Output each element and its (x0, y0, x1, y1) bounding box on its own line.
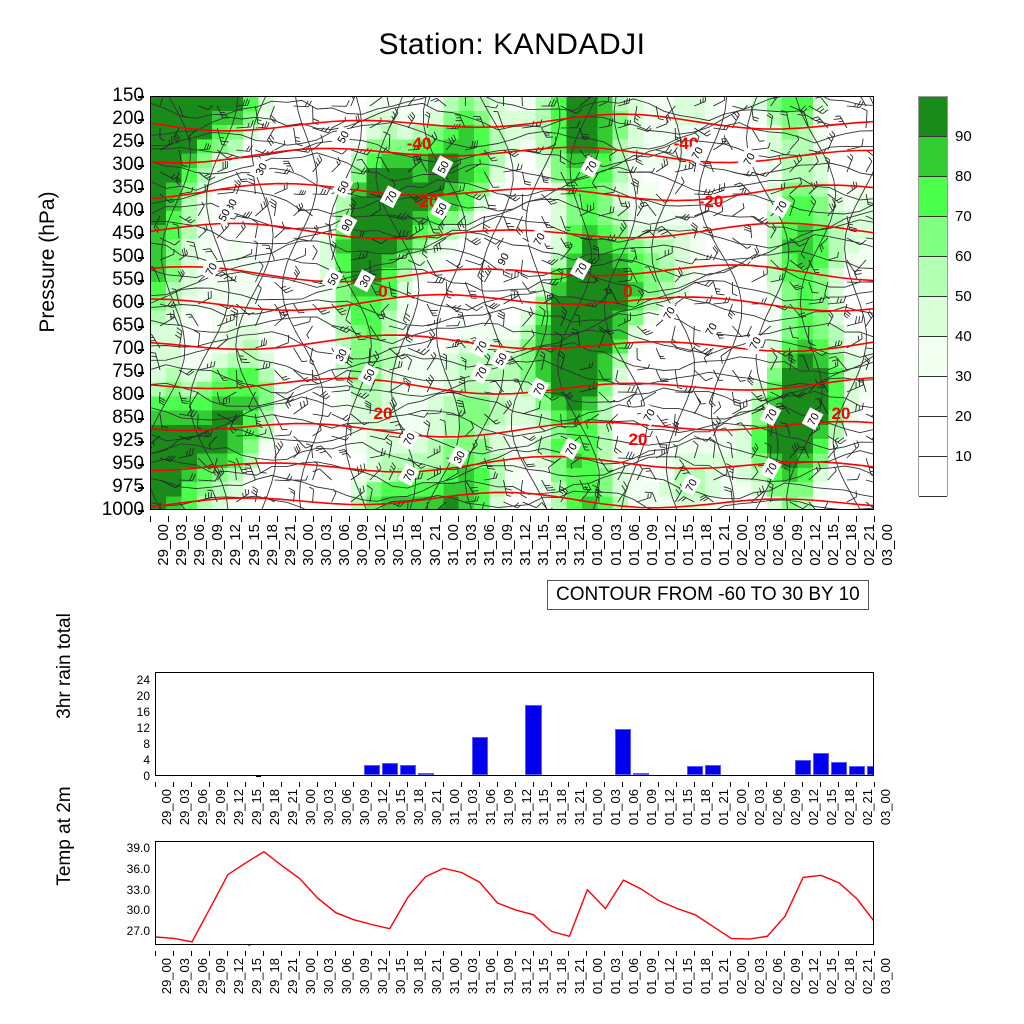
page-title: Station: KANDADJI (0, 28, 1024, 62)
time-tick-label: 30_03 (321, 789, 336, 845)
rain-bar[interactable] (867, 766, 874, 775)
time-tick-label: 01_03 (608, 958, 623, 1014)
time-tick-mark (204, 516, 205, 522)
pressure-tick-label: 850 (84, 407, 144, 429)
pressure-tick-label: 925 (84, 430, 144, 452)
time-tick-label: 01_15 (680, 789, 695, 845)
humidity-colorbar[interactable]: 908070605040302010 (918, 96, 948, 496)
time-tick-label: 02_03 (752, 958, 767, 1014)
svg-text:20: 20 (374, 404, 393, 423)
time-tick-mark (299, 782, 300, 787)
time-tick-mark (748, 782, 749, 787)
rain-bar[interactable] (382, 763, 398, 775)
temperature-canvas (156, 842, 874, 945)
time-tick-label: 02_21 (860, 958, 875, 1014)
time-tick-mark (566, 516, 567, 522)
rain-bar-chart[interactable] (155, 672, 874, 776)
colorbar-band[interactable] (919, 177, 947, 217)
pressure-tick-label: 750 (84, 361, 144, 383)
rain-bar[interactable] (400, 765, 416, 775)
rain-bar[interactable] (795, 760, 811, 775)
time-tick-label: 01_09 (644, 789, 659, 845)
rain-bar[interactable] (615, 729, 631, 775)
time-tick-label: 30_18 (411, 789, 426, 845)
time-tick-label: 29_21 (282, 524, 299, 584)
time-tick-label: 31_15 (535, 524, 552, 584)
colorbar-tick-label: 40 (955, 328, 972, 345)
time-height-contour-plot[interactable]: -40-40-20-200020202050305070507070309050… (150, 96, 874, 510)
pressure-tick-label: 1000 (84, 499, 144, 521)
pressure-tick-label: 350 (84, 177, 144, 199)
time-tick-label: 02_09 (788, 789, 803, 845)
time-tick-mark (657, 516, 658, 522)
time-tick-label: 29_21 (285, 789, 300, 845)
time-tick-label: 31_21 (572, 789, 587, 845)
time-tick-label: 31_15 (536, 958, 551, 1014)
time-tick-mark (515, 782, 516, 787)
time-tick-mark (820, 516, 821, 522)
time-tick-mark (263, 951, 264, 956)
time-tick-label: 30_00 (303, 789, 318, 845)
rain-bar[interactable] (364, 765, 380, 775)
time-tick-label: 29_12 (231, 958, 246, 1014)
time-tick-label: 29_18 (267, 958, 282, 1014)
time-tick-label: 03_00 (878, 789, 893, 845)
time-tick-label: 29_09 (209, 524, 226, 584)
time-tick-label: 02_12 (806, 789, 821, 845)
time-tick-mark (784, 516, 785, 522)
time-tick-mark (155, 782, 156, 787)
time-tick-label: 01_12 (662, 789, 677, 845)
time-tick-label: 02_09 (789, 524, 806, 584)
time-tick-label: 31_06 (483, 789, 498, 845)
time-tick-mark (371, 951, 372, 956)
time-tick-mark (622, 951, 623, 956)
pressure-tick-label: 200 (84, 108, 144, 130)
rain-bar[interactable] (813, 753, 829, 775)
time-tick-label: 30_09 (354, 524, 371, 584)
svg-text:0: 0 (378, 282, 387, 301)
pressure-tick-label: 300 (84, 154, 144, 176)
time-tick-mark (497, 782, 498, 787)
time-tick-mark (281, 951, 282, 956)
time-tick-label: 29_15 (249, 958, 264, 1014)
time-tick-mark (533, 782, 534, 787)
time-tick-mark (335, 782, 336, 787)
time-tick-mark (385, 516, 386, 522)
pressure-tick-mark (138, 372, 144, 374)
pressure-tick-label: 450 (84, 223, 144, 245)
time-tick-label: 01_21 (716, 524, 733, 584)
time-tick-mark (407, 951, 408, 956)
time-tick-label: 03_00 (878, 958, 893, 1014)
time-tick-label: 02_00 (734, 524, 751, 584)
time-tick-label: 02_18 (843, 524, 860, 584)
colorbar-tick-label: 90 (955, 128, 972, 145)
time-tick-mark (209, 782, 210, 787)
time-tick-label: 30_12 (375, 958, 390, 1014)
time-tick-mark (191, 782, 192, 787)
time-tick-label: 29_12 (227, 524, 244, 584)
time-tick-mark (551, 951, 552, 956)
time-tick-label: 30_09 (357, 789, 372, 845)
pressure-tick-label: 600 (84, 292, 144, 314)
time-tick-label: 02_00 (734, 789, 749, 845)
time-tick-label: 01_03 (608, 524, 625, 584)
time-tick-mark (874, 516, 875, 522)
time-tick-label: 31_00 (447, 789, 462, 845)
time-tick-label: 29_09 (213, 789, 228, 845)
time-tick-label: 30_03 (318, 524, 335, 584)
pressure-tick-mark (138, 96, 144, 98)
time-tick-mark (820, 782, 821, 787)
time-tick-mark (407, 782, 408, 787)
time-tick-label: 02_12 (806, 958, 821, 1014)
time-tick-label: 01_21 (716, 789, 731, 845)
colorbar-band[interactable] (919, 377, 947, 417)
rain-tick-label: 20 (106, 689, 150, 703)
time-tick-mark (389, 951, 390, 956)
time-tick-mark (425, 951, 426, 956)
svg-text:-20: -20 (699, 192, 724, 211)
temp-time-axis: 29_0029_0329_0629_0929_1229_1529_1829_21… (155, 951, 874, 1009)
rain-bar[interactable] (849, 766, 865, 775)
time-tick-label: 31_18 (554, 789, 569, 845)
time-tick-mark (155, 951, 156, 956)
time-tick-mark (353, 951, 354, 956)
time-tick-label: 30_15 (393, 958, 408, 1014)
time-tick-label: 29_06 (195, 958, 210, 1014)
time-tick-label: 30_06 (339, 958, 354, 1014)
rain-bar[interactable] (831, 762, 847, 775)
pressure-tick-mark (138, 441, 144, 443)
time-tick-mark (622, 782, 623, 787)
time-tick-mark (856, 516, 857, 522)
time-tick-label: 02_15 (825, 524, 842, 584)
rain-tick-label: 4 (106, 753, 150, 767)
time-tick-label: 31_09 (501, 958, 516, 1014)
time-tick-mark (443, 782, 444, 787)
pressure-tick-label: 950 (84, 453, 144, 475)
time-tick-mark (874, 782, 875, 787)
time-tick-mark (621, 516, 622, 522)
time-tick-mark (568, 782, 569, 787)
time-tick-mark (313, 516, 314, 522)
pressure-tick-label: 975 (84, 476, 144, 498)
time-tick-mark (712, 782, 713, 787)
time-tick-mark (349, 516, 350, 522)
time-tick-label: 31_21 (571, 524, 588, 584)
time-tick-mark (515, 951, 516, 956)
time-tick-label: 01_06 (626, 958, 641, 1014)
colorbar-tick-label: 60 (955, 248, 972, 265)
time-tick-mark (586, 782, 587, 787)
time-tick-mark (711, 516, 712, 522)
time-tick-mark (766, 951, 767, 956)
time-tick-mark (331, 516, 332, 522)
time-tick-mark (335, 951, 336, 956)
colorbar-tick-label: 80 (955, 168, 972, 185)
time-tick-mark (694, 951, 695, 956)
time-tick-label: 29_06 (191, 524, 208, 584)
time-tick-mark (874, 951, 875, 956)
time-tick-mark (317, 951, 318, 956)
time-tick-label: 01_06 (626, 524, 643, 584)
colorbar-band[interactable] (919, 337, 947, 377)
time-tick-label: 29_00 (159, 958, 174, 1014)
time-tick-label: 30_00 (300, 524, 317, 584)
temp-axis-label: Temp at 2m (54, 726, 76, 946)
time-tick-mark (838, 782, 839, 787)
pressure-tick-label: 800 (84, 384, 144, 406)
time-tick-label: 29_03 (173, 524, 190, 584)
time-tick-label: 02_21 (861, 524, 878, 584)
pressure-axis-ticks: 1502002503003504004505005506006507007508… (78, 96, 144, 510)
rain-bar[interactable] (687, 766, 703, 775)
rain-bar[interactable] (633, 773, 649, 775)
time-tick-mark (676, 782, 677, 787)
svg-text:20: 20 (629, 430, 648, 449)
time-tick-mark (568, 951, 569, 956)
time-tick-mark (150, 516, 151, 522)
rain-tick-label: 0 (106, 769, 150, 783)
pressure-tick-mark (138, 142, 144, 144)
time-tick-mark (533, 951, 534, 956)
time-tick-mark (259, 516, 260, 522)
time-tick-label: 31_09 (499, 524, 516, 584)
time-tick-mark (640, 782, 641, 787)
time-tick-mark (186, 516, 187, 522)
time-tick-mark (548, 516, 549, 522)
time-tick-mark (640, 951, 641, 956)
time-tick-label: 31_03 (465, 958, 480, 1014)
time-tick-mark (245, 782, 246, 787)
time-tick-label: 30_21 (427, 524, 444, 584)
time-tick-label: 30_03 (321, 958, 336, 1014)
time-tick-mark (748, 951, 749, 956)
pressure-tick-mark (138, 510, 144, 512)
colorbar-tick-label: 50 (955, 288, 972, 305)
time-tick-mark (856, 951, 857, 956)
time-tick-label: 29_18 (267, 789, 282, 845)
time-tick-label: 02_03 (752, 524, 769, 584)
rain-bar[interactable] (705, 765, 721, 775)
pressure-tick-mark (138, 487, 144, 489)
time-tick-mark (476, 516, 477, 522)
time-tick-label: 31_09 (501, 789, 516, 845)
colorbar-band[interactable] (919, 297, 947, 337)
time-tick-label: 31_00 (445, 524, 462, 584)
time-tick-mark (425, 782, 426, 787)
temperature-line-chart[interactable] (155, 841, 874, 945)
contour-canvas: -40-40-20-200020202050305070507070309050… (151, 97, 874, 510)
time-tick-mark (277, 516, 278, 522)
time-tick-label: 01_12 (662, 524, 679, 584)
time-tick-mark (263, 782, 264, 787)
time-tick-label: 30_21 (429, 789, 444, 845)
time-tick-mark (838, 516, 839, 522)
time-tick-mark (461, 951, 462, 956)
time-tick-label: 30_09 (357, 958, 372, 1014)
time-tick-label: 01_09 (644, 958, 659, 1014)
time-tick-label: 31_18 (553, 524, 570, 584)
time-tick-label: 01_09 (644, 524, 661, 584)
time-tick-mark (227, 951, 228, 956)
time-tick-label: 02_21 (860, 789, 875, 845)
time-tick-mark (281, 782, 282, 787)
time-tick-mark (245, 951, 246, 956)
time-tick-mark (458, 516, 459, 522)
time-tick-mark (317, 782, 318, 787)
time-tick-label: 01_18 (698, 789, 713, 845)
colorbar-band[interactable] (919, 217, 947, 257)
svg-text:0: 0 (623, 282, 632, 301)
rain-tick-label: 16 (106, 705, 150, 719)
pressure-tick-mark (138, 326, 144, 328)
pressure-tick-mark (138, 257, 144, 259)
time-tick-mark (784, 782, 785, 787)
temp-tick-label: 36.0 (96, 862, 150, 876)
time-tick-mark (173, 951, 174, 956)
time-tick-mark (530, 516, 531, 522)
time-tick-mark (389, 782, 390, 787)
time-tick-label: 01_18 (698, 958, 713, 1014)
time-tick-mark (784, 951, 785, 956)
pressure-tick-mark (138, 211, 144, 213)
time-tick-mark (222, 516, 223, 522)
pressure-tick-label: 550 (84, 269, 144, 291)
time-tick-mark (730, 951, 731, 956)
pressure-tick-label: 150 (84, 85, 144, 107)
time-tick-label: 29_06 (195, 789, 210, 845)
time-tick-label: 30_18 (411, 958, 426, 1014)
chart-page: Station: KANDADJI Pressure (hPa) 1502002… (0, 0, 1024, 1024)
time-tick-label: 01_03 (608, 789, 623, 845)
time-tick-label: 01_18 (698, 524, 715, 584)
time-tick-label: 31_03 (465, 789, 480, 845)
pressure-tick-mark (138, 303, 144, 305)
temp-tick-label: 39.0 (96, 841, 150, 855)
colorbar-band[interactable] (919, 457, 947, 497)
rain-bar[interactable] (525, 705, 541, 775)
colorbar-tick-label: 30 (955, 368, 972, 385)
contour-range-note: CONTOUR FROM -60 TO 30 BY 10 (547, 580, 869, 610)
pressure-axis-label: Pressure (hPa) (36, 82, 60, 442)
time-tick-label: 30_15 (393, 789, 408, 845)
time-tick-mark (730, 782, 731, 787)
time-tick-mark (675, 516, 676, 522)
rain-bar[interactable] (472, 737, 488, 775)
rain-tick-mark (256, 776, 261, 777)
time-tick-mark (422, 516, 423, 522)
time-tick-mark (191, 951, 192, 956)
rain-tick-label: 24 (106, 673, 150, 687)
colorbar-tick-label: 20 (955, 408, 972, 425)
time-tick-label: 31_12 (519, 958, 534, 1014)
temp-minor-tick (248, 945, 251, 946)
time-tick-mark (295, 516, 296, 522)
time-tick-mark (209, 951, 210, 956)
time-tick-mark (766, 782, 767, 787)
time-tick-mark (802, 782, 803, 787)
pressure-tick-mark (138, 395, 144, 397)
time-tick-mark (802, 516, 803, 522)
time-tick-label: 01_06 (626, 789, 641, 845)
time-tick-label: 29_09 (213, 958, 228, 1014)
time-tick-mark (694, 782, 695, 787)
time-tick-mark (227, 782, 228, 787)
colorbar-band[interactable] (919, 97, 947, 137)
time-tick-mark (371, 782, 372, 787)
time-tick-label: 02_06 (770, 958, 785, 1014)
colorbar-band[interactable] (919, 257, 947, 297)
colorbar-band[interactable] (919, 417, 947, 457)
time-tick-mark (494, 516, 495, 522)
time-tick-mark (604, 782, 605, 787)
time-tick-mark (584, 516, 585, 522)
time-tick-mark (353, 782, 354, 787)
time-tick-label: 02_18 (842, 958, 857, 1014)
time-tick-mark (443, 951, 444, 956)
pressure-tick-mark (138, 464, 144, 466)
time-tick-label: 01_15 (680, 524, 697, 584)
time-tick-label: 01_00 (590, 958, 605, 1014)
time-tick-label: 02_15 (824, 958, 839, 1014)
time-tick-mark (551, 782, 552, 787)
rain-tick-label: 12 (106, 721, 150, 735)
rain-tick-label: 8 (106, 737, 150, 751)
time-tick-label: 30_15 (390, 524, 407, 584)
time-tick-label: 30_21 (429, 958, 444, 1014)
time-tick-label: 30_00 (303, 958, 318, 1014)
time-tick-label: 02_06 (770, 789, 785, 845)
time-tick-label: 29_15 (249, 789, 264, 845)
time-tick-mark (479, 951, 480, 956)
time-tick-label: 30_12 (375, 789, 390, 845)
time-tick-label: 30_06 (336, 524, 353, 584)
temp-axis-ticks: 27.030.033.036.039.0 (96, 841, 152, 945)
pressure-tick-label: 400 (84, 200, 144, 222)
time-tick-mark (168, 516, 169, 522)
time-tick-label: 31_15 (536, 789, 551, 845)
colorbar-tick-label: 70 (955, 208, 972, 225)
temp-tick-label: 30.0 (96, 903, 150, 917)
colorbar-band[interactable] (919, 137, 947, 177)
time-tick-mark (299, 951, 300, 956)
pressure-tick-label: 250 (84, 131, 144, 153)
time-tick-mark (497, 951, 498, 956)
time-tick-mark (639, 516, 640, 522)
time-tick-label: 02_06 (770, 524, 787, 584)
time-tick-mark (367, 516, 368, 522)
pressure-tick-mark (138, 234, 144, 236)
temp-tick-label: 27.0 (96, 924, 150, 938)
pressure-tick-mark (138, 188, 144, 190)
pressure-tick-mark (138, 165, 144, 167)
time-tick-mark (765, 516, 766, 522)
time-tick-label: 02_15 (824, 789, 839, 845)
time-tick-mark (241, 516, 242, 522)
pressure-tick-label: 700 (84, 338, 144, 360)
pressure-tick-mark (138, 280, 144, 282)
time-tick-label: 01_12 (662, 958, 677, 1014)
rain-bar[interactable] (418, 773, 434, 775)
time-tick-mark (403, 516, 404, 522)
main-time-axis: 29_0029_0329_0629_0929_1229_1529_1829_21… (150, 516, 874, 578)
time-tick-mark (440, 516, 441, 522)
time-tick-label: 31_06 (483, 958, 498, 1014)
pressure-tick-mark (138, 119, 144, 121)
